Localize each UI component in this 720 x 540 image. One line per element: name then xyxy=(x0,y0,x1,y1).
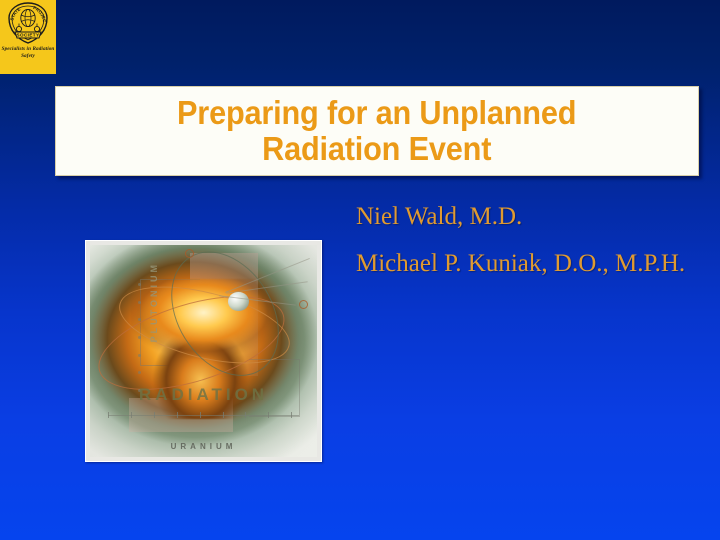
badge-emblem: SOCIETY STATE PROJECT xyxy=(4,2,52,46)
artwork-canvas: PLUTONIUM RADIATION URANIUM xyxy=(90,245,317,457)
author-name-secondary: Michael P. Kuniak, D.O., M.P.H. xyxy=(356,247,701,280)
title-box: Preparing for an Unplanned Radiation Eve… xyxy=(55,86,699,176)
atom-nucleus-icon xyxy=(228,292,248,311)
dot-column xyxy=(138,283,141,393)
radiation-artwork-image: PLUTONIUM RADIATION URANIUM xyxy=(85,240,322,462)
tick-ruler xyxy=(108,415,299,416)
presentation-slide: SOCIETY STATE PROJECT Specialists in Rad… xyxy=(0,0,720,540)
organization-logo: SOCIETY STATE PROJECT Specialists in Rad… xyxy=(0,0,56,74)
page-title: Preparing for an Unplanned Radiation Eve… xyxy=(168,95,586,167)
artwork-label-uranium: URANIUM xyxy=(90,442,317,451)
logo-tagline: Specialists in Radiation Safety xyxy=(0,46,56,61)
circle-marker-icon xyxy=(299,300,308,309)
shield-badge-icon: SOCIETY STATE PROJECT xyxy=(4,2,52,46)
author-block: Niel Wald, M.D. Michael P. Kuniak, D.O.,… xyxy=(356,200,701,280)
artwork-label-plutonium: PLUTONIUM xyxy=(149,262,159,342)
svg-text:SOCIETY: SOCIETY xyxy=(17,33,40,38)
artwork-label-radiation: RADIATION xyxy=(90,385,317,405)
author-name-primary: Niel Wald, M.D. xyxy=(356,200,701,233)
